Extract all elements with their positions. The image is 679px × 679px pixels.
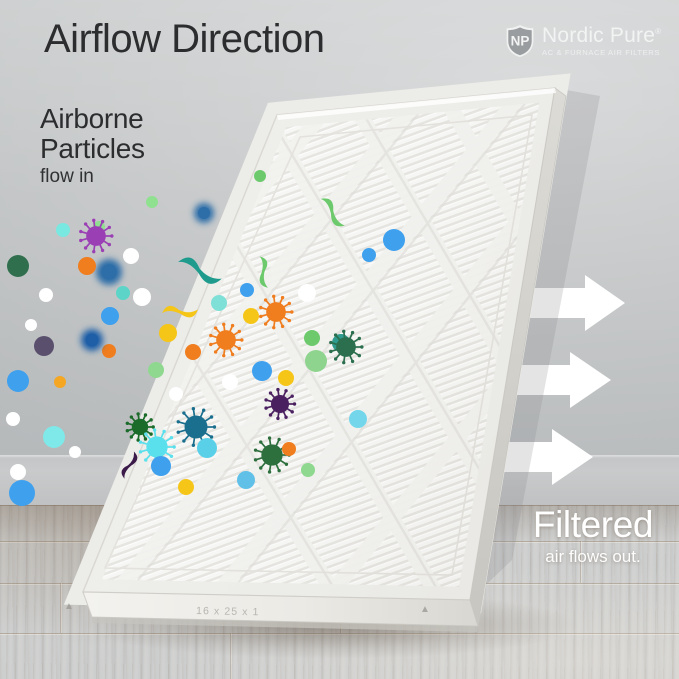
filtered-line-2: air flows out. xyxy=(518,545,668,569)
logo-mark-text: NP xyxy=(511,34,530,49)
caption-line-1: Airborne xyxy=(40,104,145,134)
filtered-line-1: Filtered xyxy=(518,505,668,545)
airborne-particles-caption: Airborne Particles flow in xyxy=(40,104,145,190)
logo-brand-name-text: Nordic Pure xyxy=(542,24,655,47)
shield-icon: NP xyxy=(505,24,535,58)
filter-size-label: 16 x 25 x 1 xyxy=(196,605,260,618)
logo-brand-name: Nordic Pure® xyxy=(542,25,661,46)
brand-logo[interactable]: NP Nordic Pure® AC & FURNACE AIR FILTERS xyxy=(505,24,661,58)
air-filter-product: 16 x 25 x 1 ▲ ▲ xyxy=(0,0,679,679)
logo-tagline: AC & FURNACE AIR FILTERS xyxy=(542,49,661,57)
filtered-caption: Filtered air flows out. xyxy=(518,505,668,569)
frame-direction-arrow-right: ▲ xyxy=(420,604,430,615)
caption-line-2: Particles xyxy=(40,134,145,164)
logo-registered-mark: ® xyxy=(655,27,661,36)
page-title: Airflow Direction xyxy=(44,17,324,62)
logo-wordmark: Nordic Pure® AC & FURNACE AIR FILTERS xyxy=(542,25,661,57)
frame-direction-arrow-left: ▲ xyxy=(64,601,74,612)
caption-line-3: flow in xyxy=(40,164,145,190)
product-infographic: 16 x 25 x 1 ▲ ▲ Airflow Direction Airbor… xyxy=(0,0,679,679)
